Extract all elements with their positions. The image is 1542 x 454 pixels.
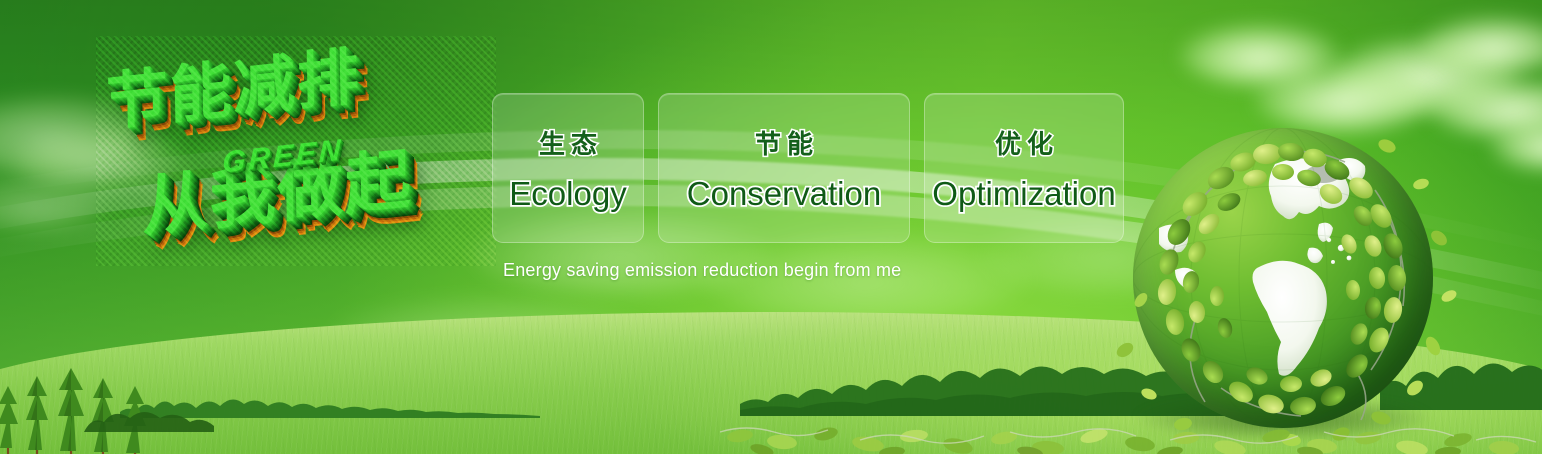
title-artwork: 节能减排 从我做起 GREEN xyxy=(96,36,496,266)
feature-card-cn-label: 生态 xyxy=(533,124,603,161)
globe-continents xyxy=(1133,128,1433,428)
feature-card-en-label: Optimization xyxy=(932,175,1115,213)
tagline: Energy saving emission reduction begin f… xyxy=(503,260,901,281)
globe-sphere xyxy=(1133,128,1433,428)
title-line-1: 节能减排 xyxy=(105,25,361,142)
feature-card-optimization[interactable]: 优化 Optimization xyxy=(924,93,1124,243)
leaf-covered-globe xyxy=(1133,128,1433,428)
feature-card-en-label: Ecology xyxy=(509,175,626,213)
feature-card-en-label: Conservation xyxy=(687,175,881,213)
feature-card-conservation[interactable]: 节能 Conservation xyxy=(658,93,910,243)
feature-card-cn-label: 节能 xyxy=(749,124,819,161)
feature-cards: 生态 Ecology 节能 Conservation 优化 Optimizati… xyxy=(492,93,1124,243)
feature-card-cn-label: 优化 xyxy=(989,124,1059,161)
eco-banner: 节能减排 从我做起 GREEN 生态 Ecology 节能 Conservati… xyxy=(0,0,1542,454)
feature-card-ecology[interactable]: 生态 Ecology xyxy=(492,93,644,243)
